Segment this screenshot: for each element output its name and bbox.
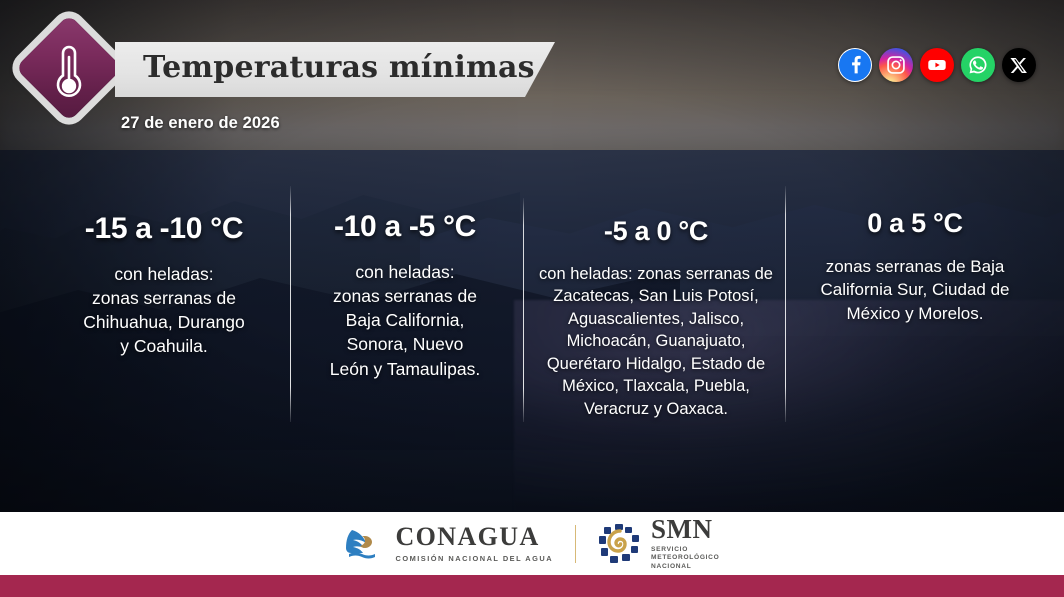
temperature-regions: con heladas: zonas serranas de Zacatecas… — [528, 263, 784, 420]
temperature-range: -5 a 0 °C — [528, 216, 784, 247]
temperature-regions: zonas serranas de Baja California Sur, C… — [800, 255, 1030, 325]
page-title: Temperaturas mínimas — [143, 50, 543, 85]
thermometer-icon — [22, 21, 116, 115]
smn-wordmark: SMN — [651, 516, 719, 543]
x-twitter-icon[interactable] — [1002, 48, 1036, 82]
instagram-icon[interactable] — [879, 48, 913, 82]
smn-subtitle: SERVICIOMETEOROLÓGICONACIONAL — [651, 546, 719, 570]
temperature-column: 0 a 5 °C zonas serranas de Baja Californ… — [800, 208, 1030, 325]
conagua-wordmark: CONAGUA — [396, 524, 554, 550]
youtube-icon[interactable] — [920, 48, 954, 82]
temperature-columns: -15 a -10 °C con heladas:zonas serranas … — [0, 190, 1064, 440]
smn-logo: SMN SERVICIOMETEOROLÓGICONACIONAL — [598, 516, 719, 570]
bottom-accent-bar — [0, 575, 1064, 597]
temperature-range: 0 a 5 °C — [800, 208, 1030, 239]
facebook-icon[interactable] — [838, 48, 872, 82]
temperature-regions: con heladas:zonas serranas deChihuahua, … — [38, 262, 290, 359]
thermometer-badge — [22, 21, 116, 115]
temperature-column: -5 a 0 °C con heladas: zonas serranas de… — [528, 216, 784, 420]
temperature-column: -15 a -10 °C con heladas:zonas serranas … — [38, 212, 290, 359]
temperature-column: -10 a -5 °C con heladas:zonas serranas d… — [300, 210, 510, 381]
date-label: 27 de enero de 2026 — [121, 114, 280, 133]
logo-separator — [575, 525, 576, 563]
conagua-subtitle: COMISIÓN NACIONAL DEL AGUA — [396, 554, 554, 563]
weather-infographic: Temperaturas mínimas 27 de enero de 2026 — [0, 0, 1064, 597]
temperature-regions: con heladas:zonas serranas deBaja Califo… — [300, 260, 510, 381]
conagua-logo: CONAGUA COMISIÓN NACIONAL DEL AGUA — [345, 524, 554, 564]
smn-emblem-icon — [598, 523, 642, 565]
footer-logos: CONAGUA COMISIÓN NACIONAL DEL AGUA — [0, 512, 1064, 575]
whatsapp-icon[interactable] — [961, 48, 995, 82]
conagua-emblem-icon — [345, 524, 387, 564]
temperature-range: -10 a -5 °C — [300, 210, 510, 244]
social-links — [838, 48, 1036, 82]
temperature-range: -15 a -10 °C — [38, 212, 290, 246]
